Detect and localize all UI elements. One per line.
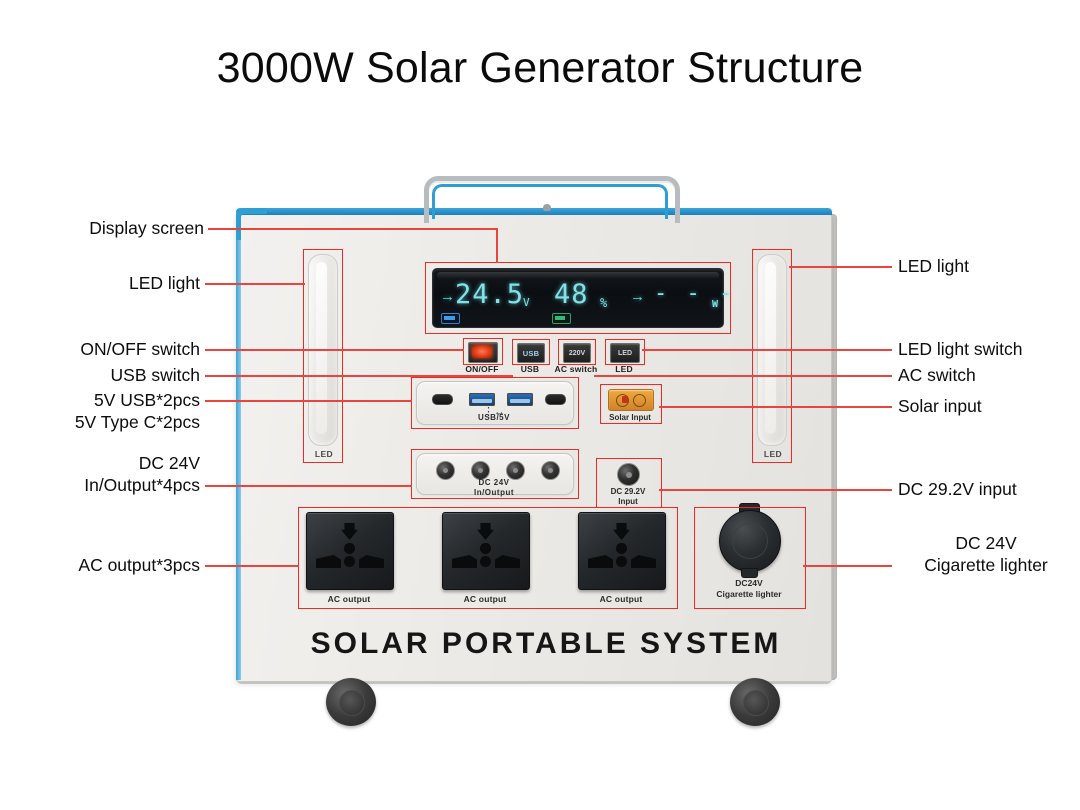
leader-ac-output <box>205 565 299 567</box>
highlight-box-cigarette-lighter <box>694 507 806 609</box>
caster-wheel-right <box>730 678 780 726</box>
highlight-box-solar-input <box>600 384 662 424</box>
annotation-usb-typec: 5V USB*2pcs 5V Type C*2pcs <box>0 389 200 433</box>
annotation-cigarette-lighter: DC 24V Cigarette lighter <box>898 532 1074 576</box>
annotation-dc24v: DC 24V In/Output*4pcs <box>0 452 200 496</box>
ac-switch-label: AC switch <box>546 364 606 374</box>
leader-ac-switch-right <box>594 375 892 377</box>
leader-onoff-switch <box>205 349 464 351</box>
device-blue-corner-trim <box>236 208 267 240</box>
leader-cigarette-lighter <box>803 565 892 567</box>
leader-dc29-2v-input <box>659 489 892 491</box>
leader-display-screen-drop <box>496 228 498 263</box>
annotation-ac-output: AC output*3pcs <box>0 554 200 576</box>
carry-handle-blue-inner <box>432 184 668 219</box>
led-switch-label: LED <box>604 364 644 374</box>
annotation-ac-switch-right: AC switch <box>898 364 1080 386</box>
annotation-display-screen: Display screen <box>0 217 204 239</box>
leader-display-screen <box>208 228 497 230</box>
annotation-dc29-2v-input: DC 29.2V input <box>898 478 1080 500</box>
highlight-box-display-screen <box>425 262 731 334</box>
leader-usb-typec <box>205 400 412 402</box>
highlight-box-led-left <box>303 249 343 463</box>
highlight-box-onoff-switch <box>463 338 503 365</box>
annotation-solar-input: Solar input <box>898 395 1080 417</box>
onoff-switch-label: ON/OFF <box>452 364 512 374</box>
highlight-box-usb-panel <box>411 377 579 429</box>
leader-led-light-right <box>789 266 892 268</box>
annotation-led-light-left: LED light <box>0 272 200 294</box>
page-title: 3000W Solar Generator Structure <box>0 44 1080 93</box>
leader-led-light-left <box>205 283 305 285</box>
handle-bolt <box>543 204 551 211</box>
caster-wheel-left <box>326 678 376 726</box>
leader-solar-input <box>659 406 892 408</box>
annotation-usb-switch: USB switch <box>0 364 200 386</box>
annotation-led-light-right: LED light <box>898 255 1080 277</box>
diagram-canvas: 3000W Solar Generator Structure LED LED … <box>0 0 1080 810</box>
annotation-onoff-switch: ON/OFF switch <box>0 338 200 360</box>
highlight-box-led-right <box>752 249 792 463</box>
leader-led-light-switch <box>642 349 892 351</box>
highlight-box-usb-switch <box>512 339 550 365</box>
highlight-box-dc24v-panel <box>411 449 579 499</box>
leader-usb-switch <box>205 375 513 377</box>
leader-dc24v <box>205 485 412 487</box>
highlight-box-led-switch <box>605 339 645 365</box>
annotation-led-light-switch: LED light switch <box>898 338 1080 360</box>
highlight-box-ac-switch <box>558 339 596 365</box>
highlight-box-ac-outlets <box>298 507 678 609</box>
brand-text: SOLAR PORTABLE SYSTEM <box>276 627 816 661</box>
highlight-box-dc29-2v <box>596 458 662 508</box>
